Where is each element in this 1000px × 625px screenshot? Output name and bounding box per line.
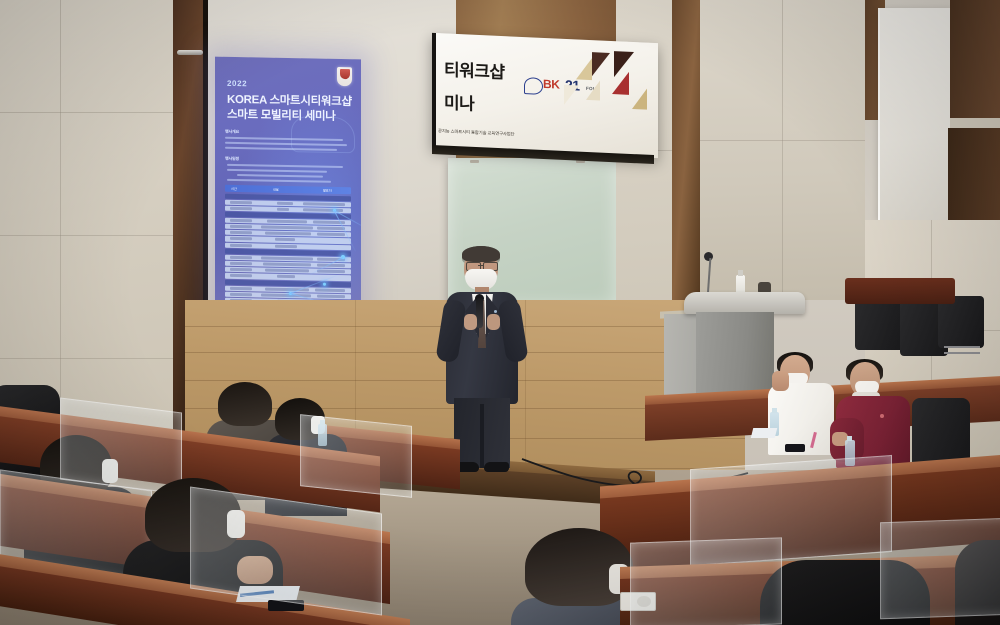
slide-section1-label: 행사개요: [225, 129, 239, 135]
projected-slide: 2022 KOREA 스마트시티워크샵 스마트 모빌리티 세미나 행사개요 행사…: [215, 57, 361, 330]
university-shield-emblem-icon: [337, 67, 352, 86]
seminar-hall-photograph: 2022 KOREA 스마트시티워크샵 스마트 모빌리티 세미나 행사개요 행사…: [0, 0, 1000, 625]
wall-wood-desk-back: [845, 278, 955, 304]
table-header-row: 시간 내용 발표자: [225, 185, 351, 194]
chair-leg: [944, 346, 980, 348]
banner-triangle-darkbrown-2: [614, 51, 634, 78]
presenter-lapel-pin: [494, 310, 497, 313]
banner-triangle-tan-1: [586, 80, 600, 101]
banner-triangle-darkbrown-1: [592, 52, 610, 77]
banner-triangle-cream-1: [564, 85, 579, 106]
banner-korean-line1: 티워크샵: [444, 55, 505, 83]
wall-trim-strip: [950, 118, 1000, 128]
presenter-shoe-right: [484, 462, 509, 472]
wall-wood-column-right: [672, 0, 700, 300]
banner-korean-line2: 미나: [444, 88, 474, 114]
acrylic-divider: [300, 414, 412, 498]
presenter-hair-front: [462, 246, 500, 262]
presenter-hand-right: [487, 314, 500, 330]
banner-subtitle: 공지능 스마트시티 융합기술 교육연구사업단: [438, 128, 515, 137]
event-banner: 티워크샵 미나 BK 21 FOUR 공지능 스마트시티 융합기술 교육연구사업…: [432, 33, 658, 158]
attendee-hair: [218, 382, 272, 426]
acrylic-divider: [630, 537, 782, 625]
logo-bk-text: BK: [543, 77, 560, 92]
slide-schedule-table: 시간 내용 발표자: [225, 185, 351, 307]
presenter-glasses-bridge: [478, 265, 484, 266]
podium-top-surface: [684, 292, 805, 314]
chair-leg: [944, 352, 980, 354]
whiteboard-right-panel[interactable]: [878, 8, 952, 220]
door-handle-icon[interactable]: [177, 50, 203, 55]
attendee-hand: [772, 371, 789, 391]
speech-bubble-icon: [524, 77, 543, 95]
acrylic-divider: [880, 518, 1000, 620]
banner-triangle-gold-2: [632, 88, 647, 110]
banner-triangle-gold-1: [576, 57, 592, 80]
smartphone[interactable]: [785, 444, 805, 452]
handheld-microphone: [476, 298, 483, 328]
slide-section2-label: 행사일정: [225, 156, 239, 162]
wall-wood-accent-b: [950, 0, 1000, 118]
wall-tile-panel-right-upper: [700, 0, 865, 300]
table-col-0: 시간: [231, 186, 237, 191]
paper-sheet[interactable]: [751, 428, 777, 438]
presenter-leg-gap: [480, 404, 484, 468]
presenter-hand-left: [464, 314, 477, 330]
table-col-2: 발표자: [323, 188, 332, 193]
slide-year: 2022: [227, 79, 247, 88]
wall-wood-accent-c: [948, 128, 1000, 220]
attendee-lapel-pin: [880, 414, 884, 418]
table-col-1: 내용: [273, 187, 279, 192]
